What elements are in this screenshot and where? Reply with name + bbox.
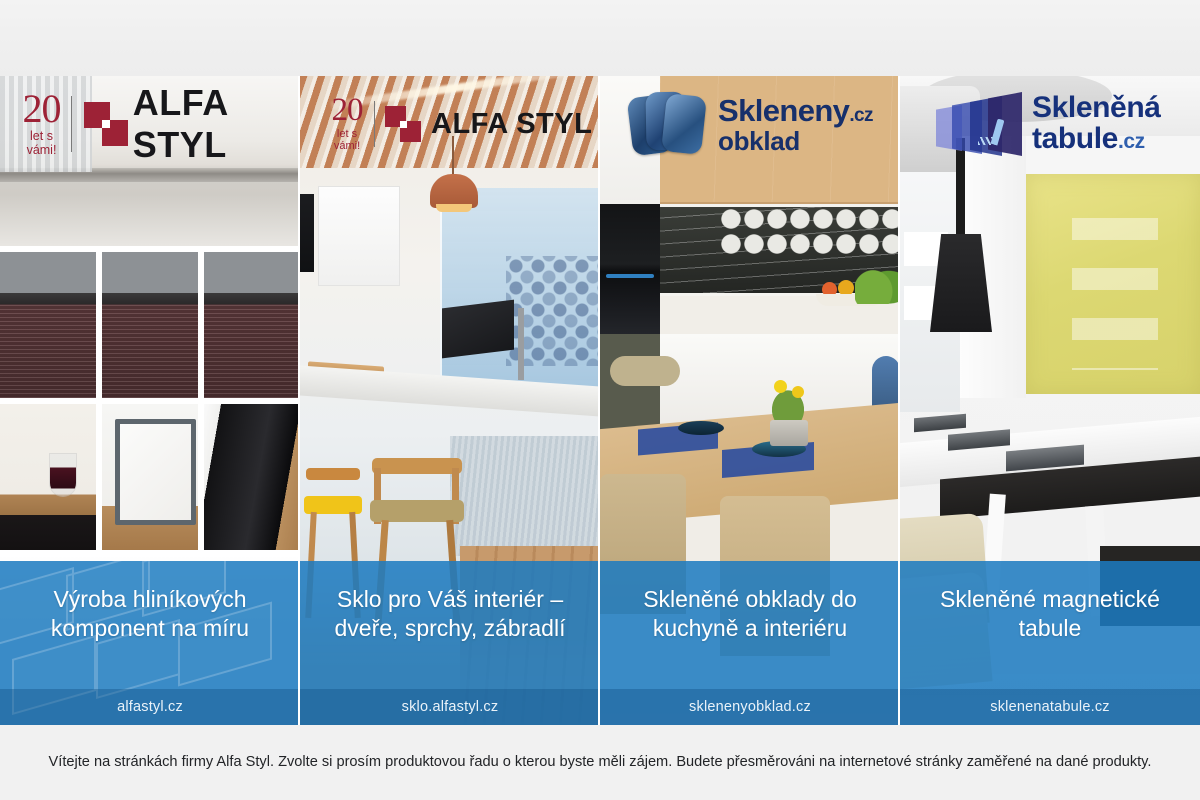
thumb-dark-wood-2 [102, 252, 198, 398]
top-background-band [0, 0, 1200, 76]
plate-1 [678, 421, 724, 435]
logo-alfa-styl-sklo[interactable]: 20 let s vámi! ALFA STYL [300, 76, 600, 172]
panel-caption-overlay: Skleněné obklady do kuchyně a interiéru … [600, 561, 900, 725]
thumb-wine-glass [0, 404, 96, 550]
skleneny-wordmark: Skleneny.cz obklad [718, 95, 873, 154]
desk-monitor [442, 300, 514, 359]
panel-url[interactable]: sklo.alfastyl.cz [300, 689, 600, 725]
panel-caption-overlay: Skleněné magnetické tabule sklenenatabul… [900, 561, 1200, 725]
panel-caption: Výroba hliníkových komponent na míru [15, 585, 285, 644]
built-in-oven [600, 204, 660, 334]
caption-line-1: Výroba hliníkových [15, 585, 285, 614]
panel-url[interactable]: sklenenatabule.cz [900, 689, 1200, 725]
anniversary-number: 20 [324, 96, 370, 125]
caption-line-1: Skleněné magnetické [915, 585, 1185, 614]
product-panel-strip: 20 let s vámi! ALFA STYL Výroba hliníkov… [0, 76, 1200, 725]
logo-divider [374, 101, 375, 147]
yellow-glass-board [1026, 174, 1200, 394]
logo-sklenena-tabule[interactable]: Skleněná tabule.cz [900, 76, 1200, 172]
panel-caption: Sklo pro Váš interiér – dveře, sprchy, z… [315, 585, 585, 644]
white-wall-cabinet [318, 186, 400, 286]
logo-alfa-styl[interactable]: 20 let s vámi! ALFA STYL [0, 76, 300, 172]
anniversary-subtitle: let s vámi! [18, 129, 65, 157]
anniversary-number: 20 [18, 92, 65, 126]
anniversary-badge: 20 let s vámi! [18, 92, 65, 157]
panel-caption-overlay: Výroba hliníkových komponent na míru alf… [0, 561, 300, 725]
logo-line-2: obklad [718, 128, 873, 154]
product-panel-sklo-alfastyl[interactable]: 20 let s vámi! ALFA STYL Sklo pro Váš in… [300, 76, 600, 725]
logo-line-1: Skleneny [718, 93, 849, 128]
anniversary-badge: 20 let s vámi! [324, 96, 370, 152]
alfa-wordmark: ALFA STYL [133, 82, 300, 166]
green-herbs [855, 262, 898, 304]
logo-skleneny-obklad[interactable]: Skleneny.cz obklad [600, 76, 900, 172]
tabule-wordmark: Skleněná tabule.cz [1032, 93, 1161, 154]
caption-line-2: komponent na míru [15, 614, 285, 643]
intro-text: Vítejte na stránkách firmy Alfa Styl. Zv… [35, 751, 1165, 774]
caption-line-2: tabule [915, 614, 1185, 643]
alfa-squares-icon [385, 106, 421, 142]
footer: Vítejte na stránkách firmy Alfa Styl. Zv… [0, 725, 1200, 800]
glass-board-icon [936, 91, 1022, 157]
thumb-glossy-black [204, 404, 298, 550]
panel-caption: Skleněné magnetické tabule [915, 585, 1185, 644]
caption-line-1: Skleněné obklady do [615, 585, 885, 614]
laptop-1 [914, 414, 966, 433]
office-carpet [450, 436, 598, 556]
panel-caption: Skleněné obklady do kuchyně a interiéru [615, 585, 885, 644]
panel-url[interactable]: alfastyl.cz [0, 689, 300, 725]
glass-panels-icon [630, 92, 708, 156]
monitor-arm [518, 308, 524, 380]
logo-line-1: Skleněná [1032, 93, 1161, 124]
caption-line-1: Sklo pro Váš interiér – [315, 585, 585, 614]
flower-pot [760, 376, 816, 446]
caption-line-2: kuchyně a interiéru [615, 614, 885, 643]
panel-url[interactable]: sklenenyobklad.cz [600, 689, 900, 725]
circle-pattern [720, 208, 898, 258]
thumb-dark-wood-1 [0, 252, 96, 398]
wall-screen [300, 194, 314, 272]
product-panel-sklenenatabule[interactable]: Skleněná tabule.cz Skleněné magnetické t… [900, 76, 1200, 725]
landing-page: 20 let s vámi! ALFA STYL Výroba hliníkov… [0, 0, 1200, 800]
logo-tld: .cz [1118, 130, 1145, 153]
logo-line-2: tabule [1032, 122, 1118, 155]
anniversary-subtitle: let s vámi! [324, 128, 370, 152]
product-thumbnail-grid [0, 246, 298, 556]
caption-line-2: dveře, sprchy, zábradlí [315, 614, 585, 643]
chair-backrest [610, 356, 680, 386]
thumb-frosted-frame [102, 404, 198, 550]
product-panel-alfastyl[interactable]: 20 let s vámi! ALFA STYL Výroba hliníkov… [0, 76, 300, 725]
product-panel-sklenenyobklad[interactable]: Skleneny.cz obklad Skleněné obklady do k… [600, 76, 900, 725]
panel-caption-overlay: Sklo pro Váš interiér – dveře, sprchy, z… [300, 561, 600, 725]
alfa-wordmark: ALFA STYL [431, 108, 592, 141]
thumb-dark-wood-3 [204, 252, 298, 398]
logo-tld: .cz [849, 105, 873, 126]
pendant-lamp [430, 174, 478, 208]
logo-divider [71, 96, 72, 152]
alfa-squares-icon [84, 102, 121, 146]
